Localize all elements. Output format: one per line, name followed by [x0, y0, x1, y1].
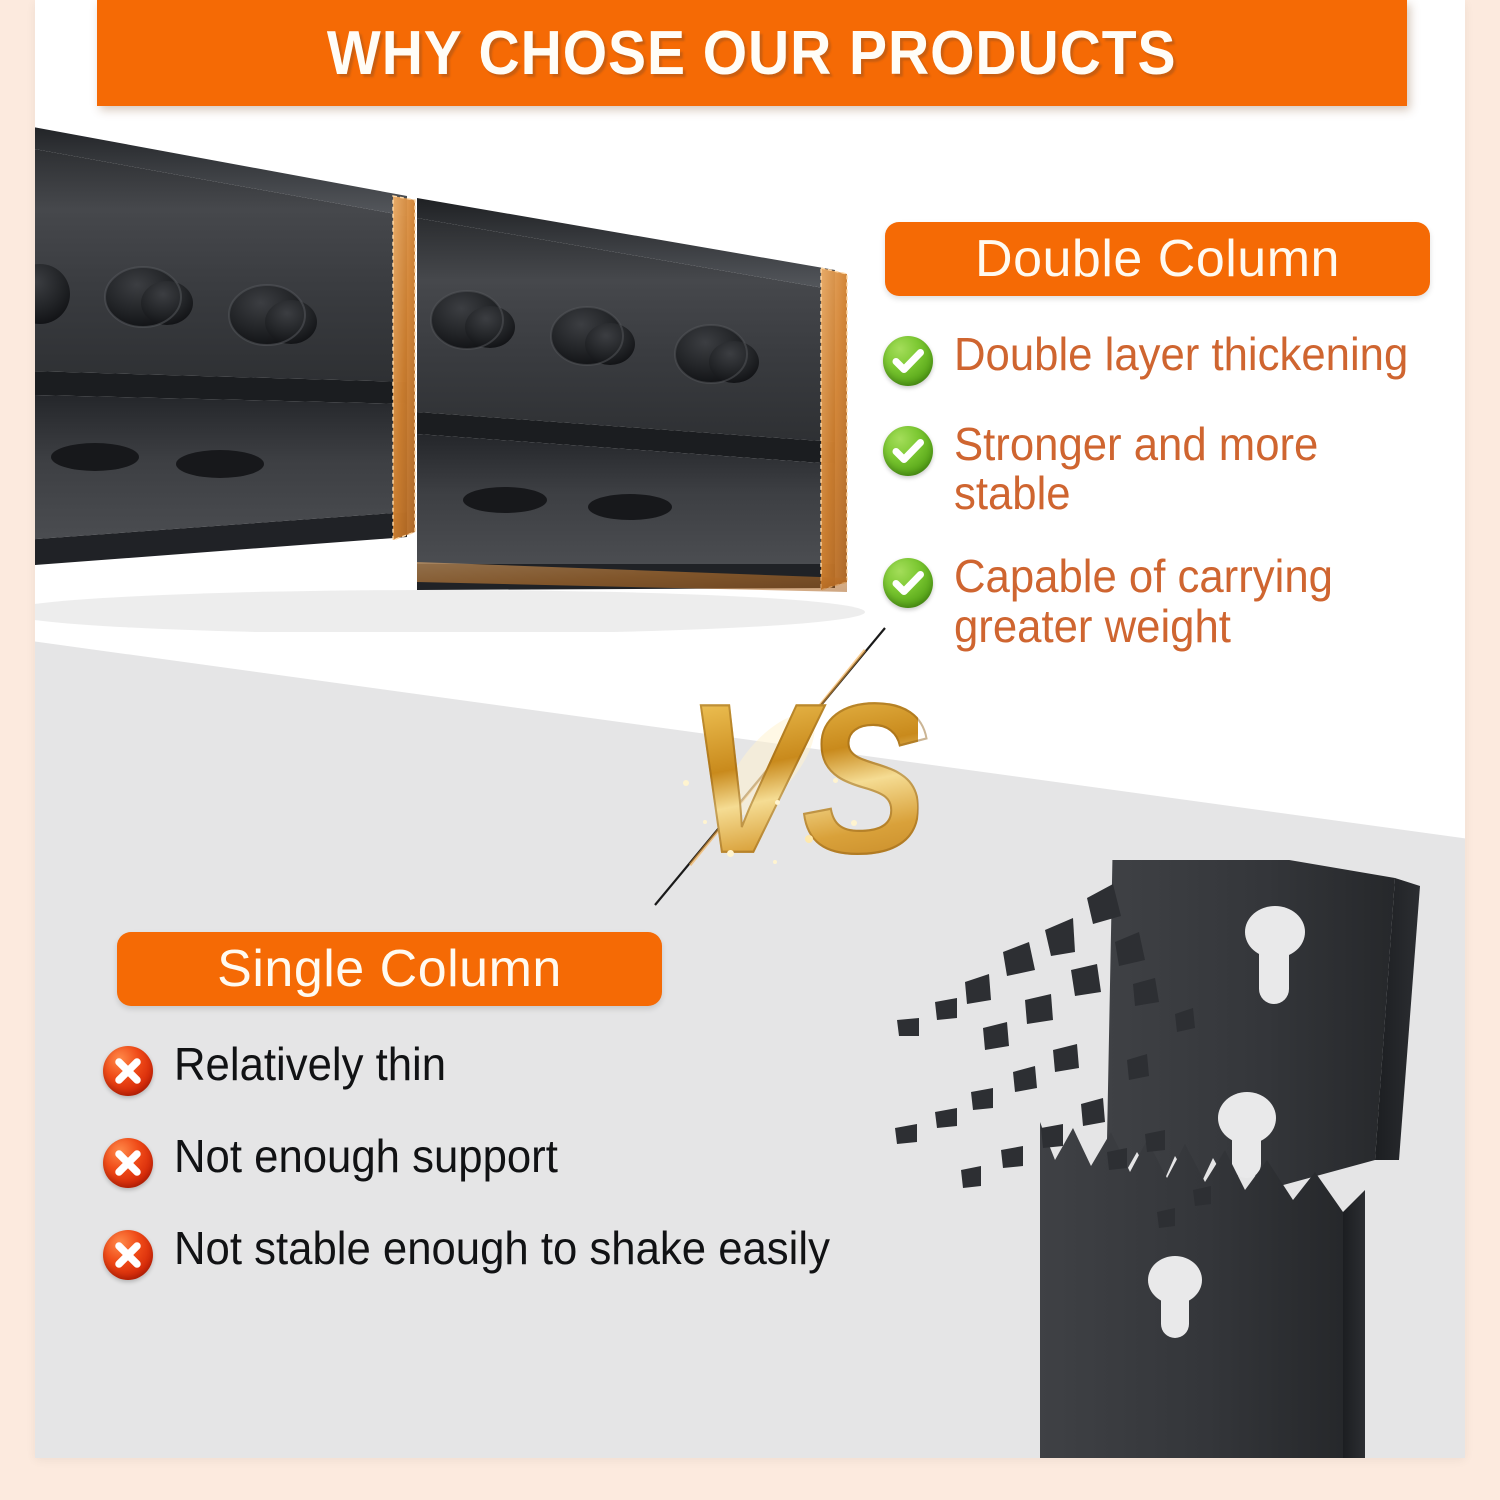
single-column-drawback-list: Relatively thin Not enough support Not s… [103, 1040, 933, 1316]
list-item: Not enough support [103, 1132, 933, 1188]
double-column-badge: Double Column [885, 222, 1430, 296]
red-cross-icon [103, 1230, 153, 1280]
red-cross-icon [103, 1138, 153, 1188]
list-item: Stronger and more stable [883, 420, 1463, 518]
versus-label: VS [685, 657, 918, 901]
versus-emblem: VS [655, 660, 945, 900]
double-column-product-image [35, 112, 865, 632]
header-banner: WHY CHOSE OUR PRODUCTS [97, 0, 1407, 106]
drawback-label: Relatively thin [174, 1040, 446, 1089]
green-check-icon [883, 426, 933, 476]
content-card: VS Double Column Double layer thickening… [35, 0, 1465, 1458]
single-column-broken-image [875, 860, 1465, 1458]
drawback-label: Not enough support [174, 1132, 558, 1181]
green-check-icon [883, 558, 933, 608]
page-title: WHY CHOSE OUR PRODUCTS [327, 18, 1177, 89]
single-column-badge: Single Column [117, 932, 662, 1006]
feature-label: Double layer thickening [954, 330, 1408, 379]
red-cross-icon [103, 1046, 153, 1096]
drawback-label: Not stable enough to shake easily [174, 1224, 830, 1273]
list-item: Not stable enough to shake easily [103, 1224, 933, 1280]
single-column-badge-label: Single Column [217, 939, 562, 999]
beam-left [35, 120, 415, 568]
list-item: Double layer thickening [883, 330, 1463, 386]
feature-label: Stronger and more stable [954, 420, 1438, 518]
list-item: Relatively thin [103, 1040, 933, 1096]
green-check-icon [883, 336, 933, 386]
double-column-badge-label: Double Column [975, 229, 1340, 289]
double-column-feature-list: Double layer thickening Stronger and mor… [883, 330, 1463, 685]
feature-label: Capable of carrying greater weight [954, 552, 1333, 650]
list-item: Capable of carrying greater weight [883, 552, 1463, 650]
